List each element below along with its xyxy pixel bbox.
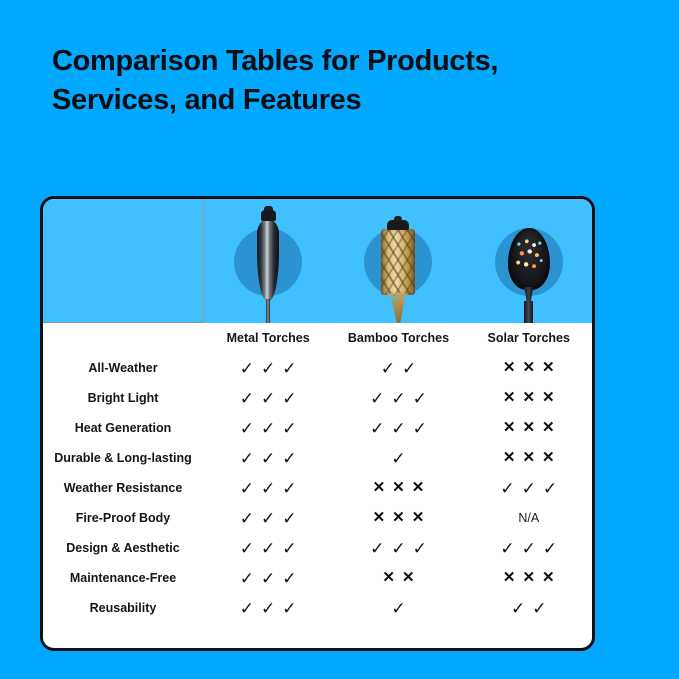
table-row: Durable & Long-lasting✓✓✓✓✕✕✕: [43, 443, 594, 473]
rating-cell: ✓✓✓: [203, 443, 333, 473]
rating-cell: ✓: [333, 443, 463, 473]
rating-cell: ✓✓✓: [203, 353, 333, 383]
check-icon: ✓: [282, 570, 296, 587]
check-icon: ✓: [402, 360, 416, 377]
check-marks: ✓✓✓: [236, 449, 300, 467]
check-icon: ✓: [381, 360, 395, 377]
cross-marks: ✕✕: [379, 570, 418, 586]
check-icon: ✓: [391, 450, 405, 467]
page-title: Comparison Tables for Products, Services…: [52, 42, 612, 119]
row-label: All-Weather: [43, 353, 203, 383]
solar-torch-neck: [524, 287, 533, 301]
cross-icon: ✕: [373, 480, 386, 495]
check-icon: ✓: [413, 390, 427, 407]
table-row: Fire-Proof Body✓✓✓✕✕✕N/A: [43, 503, 594, 533]
check-icon: ✓: [511, 600, 525, 617]
table-row: Maintenance-Free✓✓✓✕✕✕✕✕: [43, 563, 594, 593]
column-header-bamboo-torches: Bamboo Torches: [333, 323, 463, 354]
rating-cell: ✓✓✓: [333, 383, 463, 413]
cross-icon: ✕: [412, 510, 425, 525]
cross-icon: ✕: [522, 360, 535, 375]
row-label: Heat Generation: [43, 413, 203, 443]
check-icon: ✓: [500, 480, 514, 497]
check-icon: ✓: [261, 360, 275, 377]
metal-torch-body: [257, 219, 279, 301]
cross-marks: ✕✕✕: [369, 510, 428, 526]
cross-icon: ✕: [503, 570, 516, 585]
solar-torch-image: [508, 228, 550, 323]
row-label: Fire-Proof Body: [43, 503, 203, 533]
cross-icon: ✕: [542, 420, 555, 435]
metal-torch-image: [257, 210, 279, 323]
check-icon: ✓: [543, 480, 557, 497]
cross-icon: ✕: [522, 420, 535, 435]
comparison-table-card: Metal Torches Bamboo Torches Solar Torch…: [40, 196, 595, 651]
cross-icon: ✕: [412, 480, 425, 495]
cross-marks: ✕✕✕: [499, 420, 558, 436]
cross-icon: ✕: [402, 570, 415, 585]
check-icon: ✓: [261, 480, 275, 497]
table-row: All-Weather✓✓✓✓✓✕✕✕: [43, 353, 594, 383]
row-label: Durable & Long-lasting: [43, 443, 203, 473]
solar-torch-pole: [524, 301, 533, 323]
check-icon: ✓: [261, 450, 275, 467]
check-icon: ✓: [282, 600, 296, 617]
rating-cell: ✓✓✓: [203, 593, 333, 623]
cross-icon: ✕: [542, 390, 555, 405]
check-icon: ✓: [391, 390, 405, 407]
check-icon: ✓: [240, 420, 254, 437]
cross-icon: ✕: [542, 360, 555, 375]
check-icon: ✓: [282, 450, 296, 467]
cross-icon: ✕: [503, 390, 516, 405]
check-icon: ✓: [370, 540, 384, 557]
check-icon: ✓: [500, 540, 514, 557]
metal-torch-stake: [266, 299, 270, 323]
check-icon: ✓: [370, 420, 384, 437]
cross-icon: ✕: [522, 390, 535, 405]
check-icon: ✓: [522, 480, 536, 497]
table-row: Heat Generation✓✓✓✓✓✓✕✕✕: [43, 413, 594, 443]
check-icon: ✓: [240, 390, 254, 407]
rating-cell: ✕✕: [333, 563, 463, 593]
table-row: Design & Aesthetic✓✓✓✓✓✓✓✓✓: [43, 533, 594, 563]
rating-cell: ✕✕✕: [333, 473, 463, 503]
check-icon: ✓: [261, 420, 275, 437]
column-header-solar-torches: Solar Torches: [464, 323, 594, 354]
cross-icon: ✕: [392, 510, 405, 525]
cross-icon: ✕: [373, 510, 386, 525]
cross-marks: ✕✕✕: [369, 480, 428, 496]
check-icon: ✓: [261, 510, 275, 527]
rating-cell: ✓✓✓: [203, 533, 333, 563]
metal-torch-cap: [261, 210, 276, 221]
rating-cell: ✓✓: [333, 353, 463, 383]
check-icon: ✓: [282, 480, 296, 497]
row-label: Design & Aesthetic: [43, 533, 203, 563]
metal-torch-image-cell: [203, 199, 333, 323]
rating-cell: ✓✓✓: [464, 473, 594, 503]
rating-cell: ✕✕✕: [464, 563, 594, 593]
check-icon: ✓: [282, 420, 296, 437]
check-marks: ✓✓✓: [367, 539, 431, 557]
check-icon: ✓: [282, 540, 296, 557]
rating-cell: ✓✓: [464, 593, 594, 623]
table-row: Bright Light✓✓✓✓✓✓✕✕✕: [43, 383, 594, 413]
rating-cell: ✓: [333, 593, 463, 623]
check-marks: ✓✓✓: [497, 479, 561, 497]
check-icon: ✓: [261, 570, 275, 587]
cross-icon: ✕: [542, 570, 555, 585]
corner-label-cell: [43, 323, 203, 354]
column-header-metal-torches: Metal Torches: [203, 323, 333, 354]
rating-cell: ✓✓✓: [333, 413, 463, 443]
check-icon: ✓: [391, 420, 405, 437]
check-icon: ✓: [282, 360, 296, 377]
cross-icon: ✕: [503, 420, 516, 435]
check-icon: ✓: [261, 600, 275, 617]
table-row: Weather Resistance✓✓✓✕✕✕✓✓✓: [43, 473, 594, 503]
table-row: Reusability✓✓✓✓✓✓: [43, 593, 594, 623]
cross-marks: ✕✕✕: [499, 450, 558, 466]
cross-icon: ✕: [503, 450, 516, 465]
cross-marks: ✕✕✕: [499, 570, 558, 586]
check-icon: ✓: [522, 540, 536, 557]
bamboo-torch-legs: [378, 293, 418, 323]
table-body: Metal Torches Bamboo Torches Solar Torch…: [43, 199, 594, 623]
row-label: Reusability: [43, 593, 203, 623]
rating-cell: ✓✓✓: [464, 533, 594, 563]
corner-image-cell: [43, 199, 203, 323]
rating-cell: ✕✕✕: [464, 383, 594, 413]
check-icon: ✓: [240, 450, 254, 467]
cross-icon: ✕: [382, 570, 395, 585]
cross-icon: ✕: [522, 450, 535, 465]
check-marks: ✓: [388, 449, 409, 467]
cross-icon: ✕: [522, 570, 535, 585]
check-icon: ✓: [370, 390, 384, 407]
check-icon: ✓: [261, 390, 275, 407]
cross-icon: ✕: [542, 450, 555, 465]
check-icon: ✓: [391, 600, 405, 617]
cross-marks: ✕✕✕: [499, 360, 558, 376]
check-marks: ✓✓✓: [236, 539, 300, 557]
solar-torch-head: [508, 228, 550, 290]
row-label: Bright Light: [43, 383, 203, 413]
cross-icon: ✕: [503, 360, 516, 375]
rating-cell: N/A: [464, 503, 594, 533]
check-icon: ✓: [532, 600, 546, 617]
bamboo-torch-image: [378, 220, 418, 323]
row-label: Maintenance-Free: [43, 563, 203, 593]
check-marks: ✓✓✓: [367, 419, 431, 437]
rating-cell: ✓✓✓: [203, 503, 333, 533]
check-marks: ✓✓✓: [236, 569, 300, 587]
check-icon: ✓: [240, 480, 254, 497]
product-image-row: [43, 199, 594, 323]
check-marks: ✓✓✓: [367, 389, 431, 407]
check-marks: ✓✓✓: [236, 599, 300, 617]
rating-cell: ✕✕✕: [464, 353, 594, 383]
rating-cell: ✕✕✕: [333, 503, 463, 533]
check-marks: ✓✓: [507, 599, 550, 617]
rating-cell: ✕✕✕: [464, 443, 594, 473]
check-icon: ✓: [240, 510, 254, 527]
check-marks: ✓: [388, 599, 409, 617]
rating-cell: ✓✓✓: [203, 413, 333, 443]
check-icon: ✓: [240, 360, 254, 377]
check-icon: ✓: [413, 540, 427, 557]
cross-marks: ✕✕✕: [499, 390, 558, 406]
rating-cell: ✓✓✓: [333, 533, 463, 563]
rating-cell: ✓✓✓: [203, 473, 333, 503]
check-marks: ✓✓✓: [236, 419, 300, 437]
check-marks: ✓✓: [377, 359, 420, 377]
check-icon: ✓: [413, 420, 427, 437]
rating-cell: ✓✓✓: [203, 383, 333, 413]
bamboo-torch-body: [381, 229, 415, 295]
bamboo-torch-image-cell: [333, 199, 463, 323]
solar-torch-image-cell: [464, 199, 594, 323]
check-icon: ✓: [282, 390, 296, 407]
product-name-row: Metal Torches Bamboo Torches Solar Torch…: [43, 323, 594, 354]
row-label: Weather Resistance: [43, 473, 203, 503]
check-marks: ✓✓✓: [497, 539, 561, 557]
check-marks: ✓✓✓: [236, 509, 300, 527]
check-icon: ✓: [261, 540, 275, 557]
check-marks: ✓✓✓: [236, 479, 300, 497]
check-icon: ✓: [240, 600, 254, 617]
not-applicable-text: N/A: [518, 511, 539, 525]
bamboo-torch-cap: [387, 220, 409, 230]
rating-cell: ✕✕✕: [464, 413, 594, 443]
cross-icon: ✕: [392, 480, 405, 495]
comparison-table: Metal Torches Bamboo Torches Solar Torch…: [43, 199, 594, 623]
table-footer-strip: [43, 623, 592, 647]
check-marks: ✓✓✓: [236, 389, 300, 407]
check-icon: ✓: [240, 570, 254, 587]
check-icon: ✓: [543, 540, 557, 557]
check-icon: ✓: [240, 540, 254, 557]
check-icon: ✓: [391, 540, 405, 557]
rating-cell: ✓✓✓: [203, 563, 333, 593]
check-icon: ✓: [282, 510, 296, 527]
check-marks: ✓✓✓: [236, 359, 300, 377]
